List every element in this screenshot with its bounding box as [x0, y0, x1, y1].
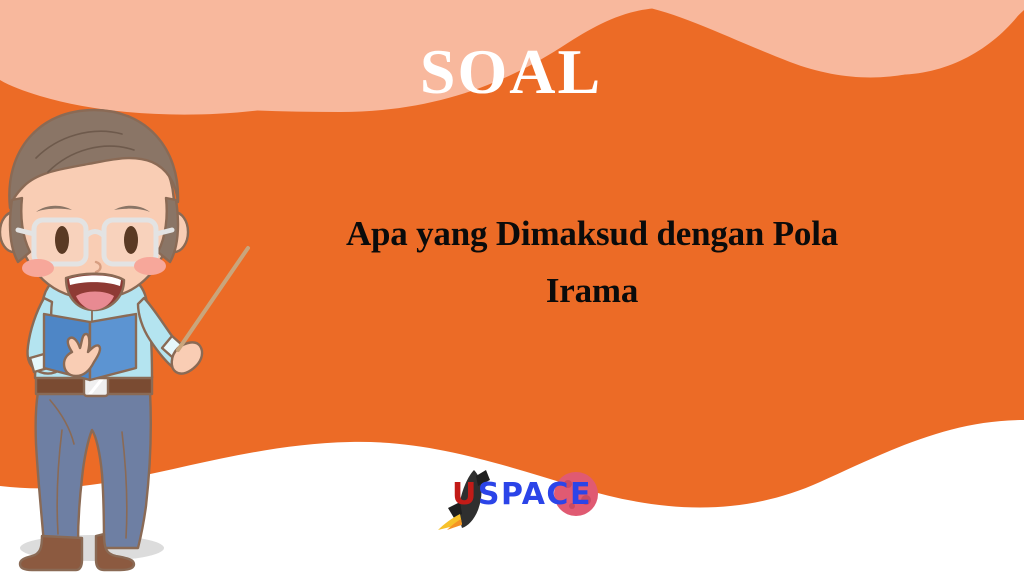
cheek-right	[134, 257, 166, 275]
eye-right	[124, 226, 138, 254]
eye-left	[55, 226, 69, 254]
logo-wordmark: USPACE	[452, 480, 592, 510]
slide-canvas: SOAL Apa yang Dimaksud dengan Pola Irama	[0, 0, 1024, 576]
page-title: SOAL	[0, 38, 1024, 105]
trousers	[36, 392, 151, 548]
uspace-logo[interactable]: USPACE	[424, 464, 620, 530]
question-line-2: Irama	[236, 263, 948, 320]
question-text: Apa yang Dimaksud dengan Pola Irama	[236, 206, 948, 319]
logo-letters-space: SPACE	[478, 477, 592, 512]
logo-letter-u: U	[452, 477, 478, 512]
cheek-left	[22, 259, 54, 277]
question-line-1: Apa yang Dimaksud dengan Pola	[236, 206, 948, 263]
